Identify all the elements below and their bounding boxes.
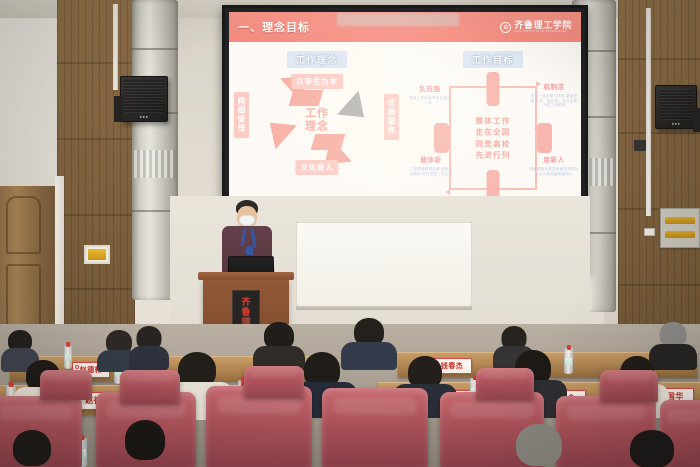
goal-label-desc: 构建一体化育人体系 健全完善 全员、全过程、全方位育人的工作机制	[529, 94, 579, 107]
brand-name-en: QILU INSTITUTE OF TECHNOLOGY	[514, 31, 572, 34]
philosophy-label-left: 精细管理	[234, 92, 249, 138]
goals-center-text: 整体工作 走在全国 同类高校 先进行列	[476, 116, 511, 161]
attendee-head	[13, 430, 51, 466]
name-card-seal-icon	[75, 365, 79, 369]
side-door[interactable]	[0, 186, 58, 340]
audience-chair-mid-1	[120, 370, 180, 404]
cycle-arrow-left	[259, 111, 297, 150]
presenter-face-mask	[239, 215, 255, 226]
right-wall-conduit	[646, 8, 651, 216]
right-wall-speaker: ●●●	[655, 85, 697, 129]
goal-label-title: 队伍强	[409, 86, 451, 94]
conference-hall-photo: ●●● ●●● 一、理念目标 齐鲁理工学院	[0, 0, 700, 467]
goal-outer-label-bottom-right: 用新人 培养德智体美劳全面发展的社会主义建设者和接班人	[529, 157, 579, 176]
philosophy-label-right: 优质服务	[384, 94, 399, 140]
attendee-front-4	[0, 430, 64, 467]
slide-header-bar: 一、理念目标 齐鲁理工学院 QILU INSTITUTE OF TECHNOLO…	[229, 12, 581, 42]
goal-node-top	[487, 72, 500, 106]
speaker-brand-logo: ●●●	[140, 114, 149, 119]
left-wall-fire-cabinet	[84, 245, 110, 264]
attendee-head	[630, 430, 674, 467]
audience-chair-3	[206, 386, 312, 467]
right-wood-panel	[618, 0, 700, 330]
right-speaker-bracket	[693, 108, 700, 132]
plaque-char-2: 鲁	[241, 308, 250, 317]
attendee-front-2	[500, 424, 578, 467]
right-section-heading: 工作目标	[463, 51, 523, 68]
audience-chair-mid-3	[476, 368, 534, 400]
speaker-grille	[659, 89, 693, 120]
cycle-arrow-right	[337, 91, 375, 130]
attendee-head	[516, 424, 562, 466]
goal-outer-label-top-right: 机制活 构建一体化育人体系 健全完善 全员、全过程、全方位育人的工作机制	[529, 84, 579, 108]
goal-label-title: 机制活	[529, 84, 579, 92]
plaque-char-1: 齐	[241, 298, 250, 307]
goal-label-desc: 思政工作队伍专业化职业化	[409, 96, 451, 105]
left-speaker-bracket	[114, 96, 123, 122]
right-wall-junction-box	[634, 140, 646, 151]
goal-label-title: 用新人	[529, 157, 579, 165]
goal-label-desc: 打造思政教育品牌 创新活动载体 提升思政工作实效	[408, 167, 454, 176]
goal-center-line-4: 先进行列	[476, 150, 511, 159]
goal-label-desc: 培养德智体美劳全面发展的社会主义建设者和接班人	[529, 167, 579, 176]
right-wall-socket	[644, 228, 655, 236]
attendee-front-3	[612, 430, 692, 467]
slide-section-title: 一、理念目标	[238, 19, 310, 35]
door-frame	[55, 176, 64, 340]
cycle-arrow-bottom-tail	[311, 134, 346, 150]
attendee-head	[125, 420, 165, 460]
podium-top-surface	[198, 272, 294, 280]
cycle-arrow-top-tail	[289, 90, 324, 106]
speaker-grille	[124, 80, 164, 113]
left-wood-panel	[57, 0, 135, 335]
left-wall-speaker: ●●●	[120, 76, 168, 122]
goal-arrow-tip-left	[445, 189, 450, 195]
whiteboard	[296, 222, 472, 308]
slide-brand-logo: 齐鲁理工学院 QILU INSTITUTE OF TECHNOLOGY	[500, 21, 572, 34]
cycle-center-label: 工作 理念	[305, 107, 329, 132]
attendee-front-1	[108, 420, 182, 467]
goal-outer-label-bottom-left: 载体新 打造思政教育品牌 创新活动载体 提升思政工作实效	[408, 157, 454, 176]
cycle-center-line-1: 工作	[305, 107, 329, 119]
goal-center-line-1: 整体工作	[476, 117, 511, 126]
presenter-badge	[246, 246, 253, 255]
speaker-brand-logo: ●●●	[672, 121, 681, 126]
goal-node-right	[537, 123, 552, 153]
audience-chair-mid-2	[244, 366, 304, 398]
cycle-center-line-2: 理念	[305, 120, 329, 132]
left-wall-conduit	[113, 4, 118, 90]
goal-outer-label-top-left: 队伍强 思政工作队伍专业化职业化	[409, 86, 451, 105]
audience-chair-4	[322, 388, 428, 467]
goal-label-title: 载体新	[408, 157, 454, 165]
philosophy-label-bottom: 文化育人	[295, 160, 338, 175]
audience-chair-mid-5	[40, 370, 92, 400]
audience-chair-mid-4	[600, 370, 658, 402]
philosophy-label-top: 以学生为本	[291, 74, 343, 89]
brand-name-cn: 齐鲁理工学院	[514, 21, 572, 30]
university-seal-icon	[500, 22, 511, 33]
fire-cabinet-face	[88, 249, 107, 260]
right-wall-notice-panel	[660, 208, 700, 248]
goal-center-line-2: 走在全国	[476, 128, 511, 137]
goal-center-line-3: 同类高校	[476, 139, 511, 148]
screen-glare	[337, 13, 459, 26]
whiteboard-rail	[296, 306, 472, 310]
goal-node-left	[434, 123, 449, 153]
